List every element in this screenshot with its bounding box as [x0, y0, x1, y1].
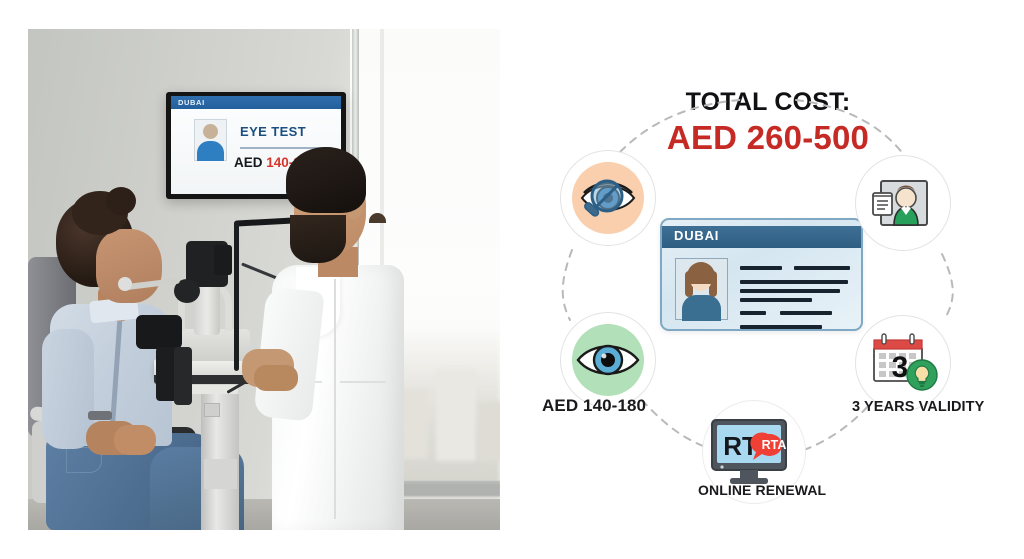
portrait-body — [682, 295, 721, 321]
node-person-document[interactable] — [855, 155, 951, 251]
id-text-line — [740, 298, 812, 302]
id-photo-head — [203, 124, 218, 139]
node-calendar-validity[interactable]: 3 — [855, 315, 951, 411]
slit-lamp-chinrest — [174, 347, 192, 405]
person-document-icon — [867, 167, 939, 239]
wall-outlet — [204, 403, 220, 417]
node-eye-magnifier[interactable] — [560, 150, 656, 246]
svg-text:3: 3 — [892, 351, 909, 384]
slit-lamp-ocular — [136, 315, 182, 349]
node-eye-cost[interactable] — [560, 312, 656, 408]
id-text-line — [740, 289, 840, 293]
instrument-cable-connector — [214, 245, 232, 275]
label-calendar-validity: 3 YEARS VALIDITY — [852, 399, 984, 415]
patient-face — [96, 229, 162, 303]
doctor-beard — [290, 215, 346, 263]
id-card-header-label: DUBAI — [674, 228, 719, 243]
doctor-coat-pocket — [340, 381, 386, 421]
id-text-line — [780, 311, 832, 315]
monitor-header-label: DUBAI — [178, 97, 238, 108]
id-photo-body — [197, 141, 224, 161]
infographic-title: TOTAL COST: — [512, 88, 1024, 117]
svg-text:RTA: RTA — [762, 438, 787, 452]
id-photo-hair — [369, 213, 386, 223]
label-eye-cost: AED 140-180 — [542, 396, 646, 416]
portrait-hair-top — [687, 262, 715, 284]
building-shape — [436, 369, 476, 461]
screenshot-root: DUBAI EYE TEST AED 140-180 — [0, 0, 1024, 559]
instrument-table-column — [204, 459, 237, 489]
eye-magnifier-icon — [572, 162, 644, 234]
connector-arc-left — [563, 250, 572, 320]
dubai-id-card: DUBAI — [660, 218, 863, 331]
slit-lamp-fixation-light — [118, 277, 132, 291]
id-text-line — [740, 325, 822, 329]
calendar-icon: 3 — [865, 327, 941, 399]
id-text-line — [740, 266, 782, 270]
eye-icon — [572, 324, 644, 396]
patient-wristwatch — [88, 411, 112, 420]
clinic-photo: DUBAI EYE TEST AED 140-180 — [28, 29, 500, 530]
id-text-line — [740, 311, 766, 315]
doctor-hair — [286, 147, 366, 213]
instrument-cable — [234, 221, 239, 371]
id-text-line — [794, 266, 850, 270]
patient-hair-bun — [106, 187, 136, 215]
monitor-title: EYE TEST — [240, 124, 335, 140]
infographic-total-price: AED 260-500 — [512, 119, 1024, 157]
monitor-price-prefix: AED — [234, 155, 263, 170]
id-text-line — [740, 280, 848, 284]
patient-hand — [114, 425, 156, 455]
doctor-hand — [254, 365, 298, 391]
cost-infographic: TOTAL COST: AED 260-500 DUBAI — [512, 0, 1024, 559]
monitor-icon: RTA RTA — [708, 412, 800, 492]
connector-arc-bottom-left — [642, 400, 708, 448]
label-online-renewal: ONLINE RENEWAL — [698, 482, 813, 498]
doctor-coat-seam — [334, 279, 336, 519]
building-shape — [478, 401, 500, 461]
id-card-text-lines — [740, 262, 852, 331]
connector-arc-right — [942, 254, 953, 320]
id-card-portrait — [675, 258, 728, 320]
